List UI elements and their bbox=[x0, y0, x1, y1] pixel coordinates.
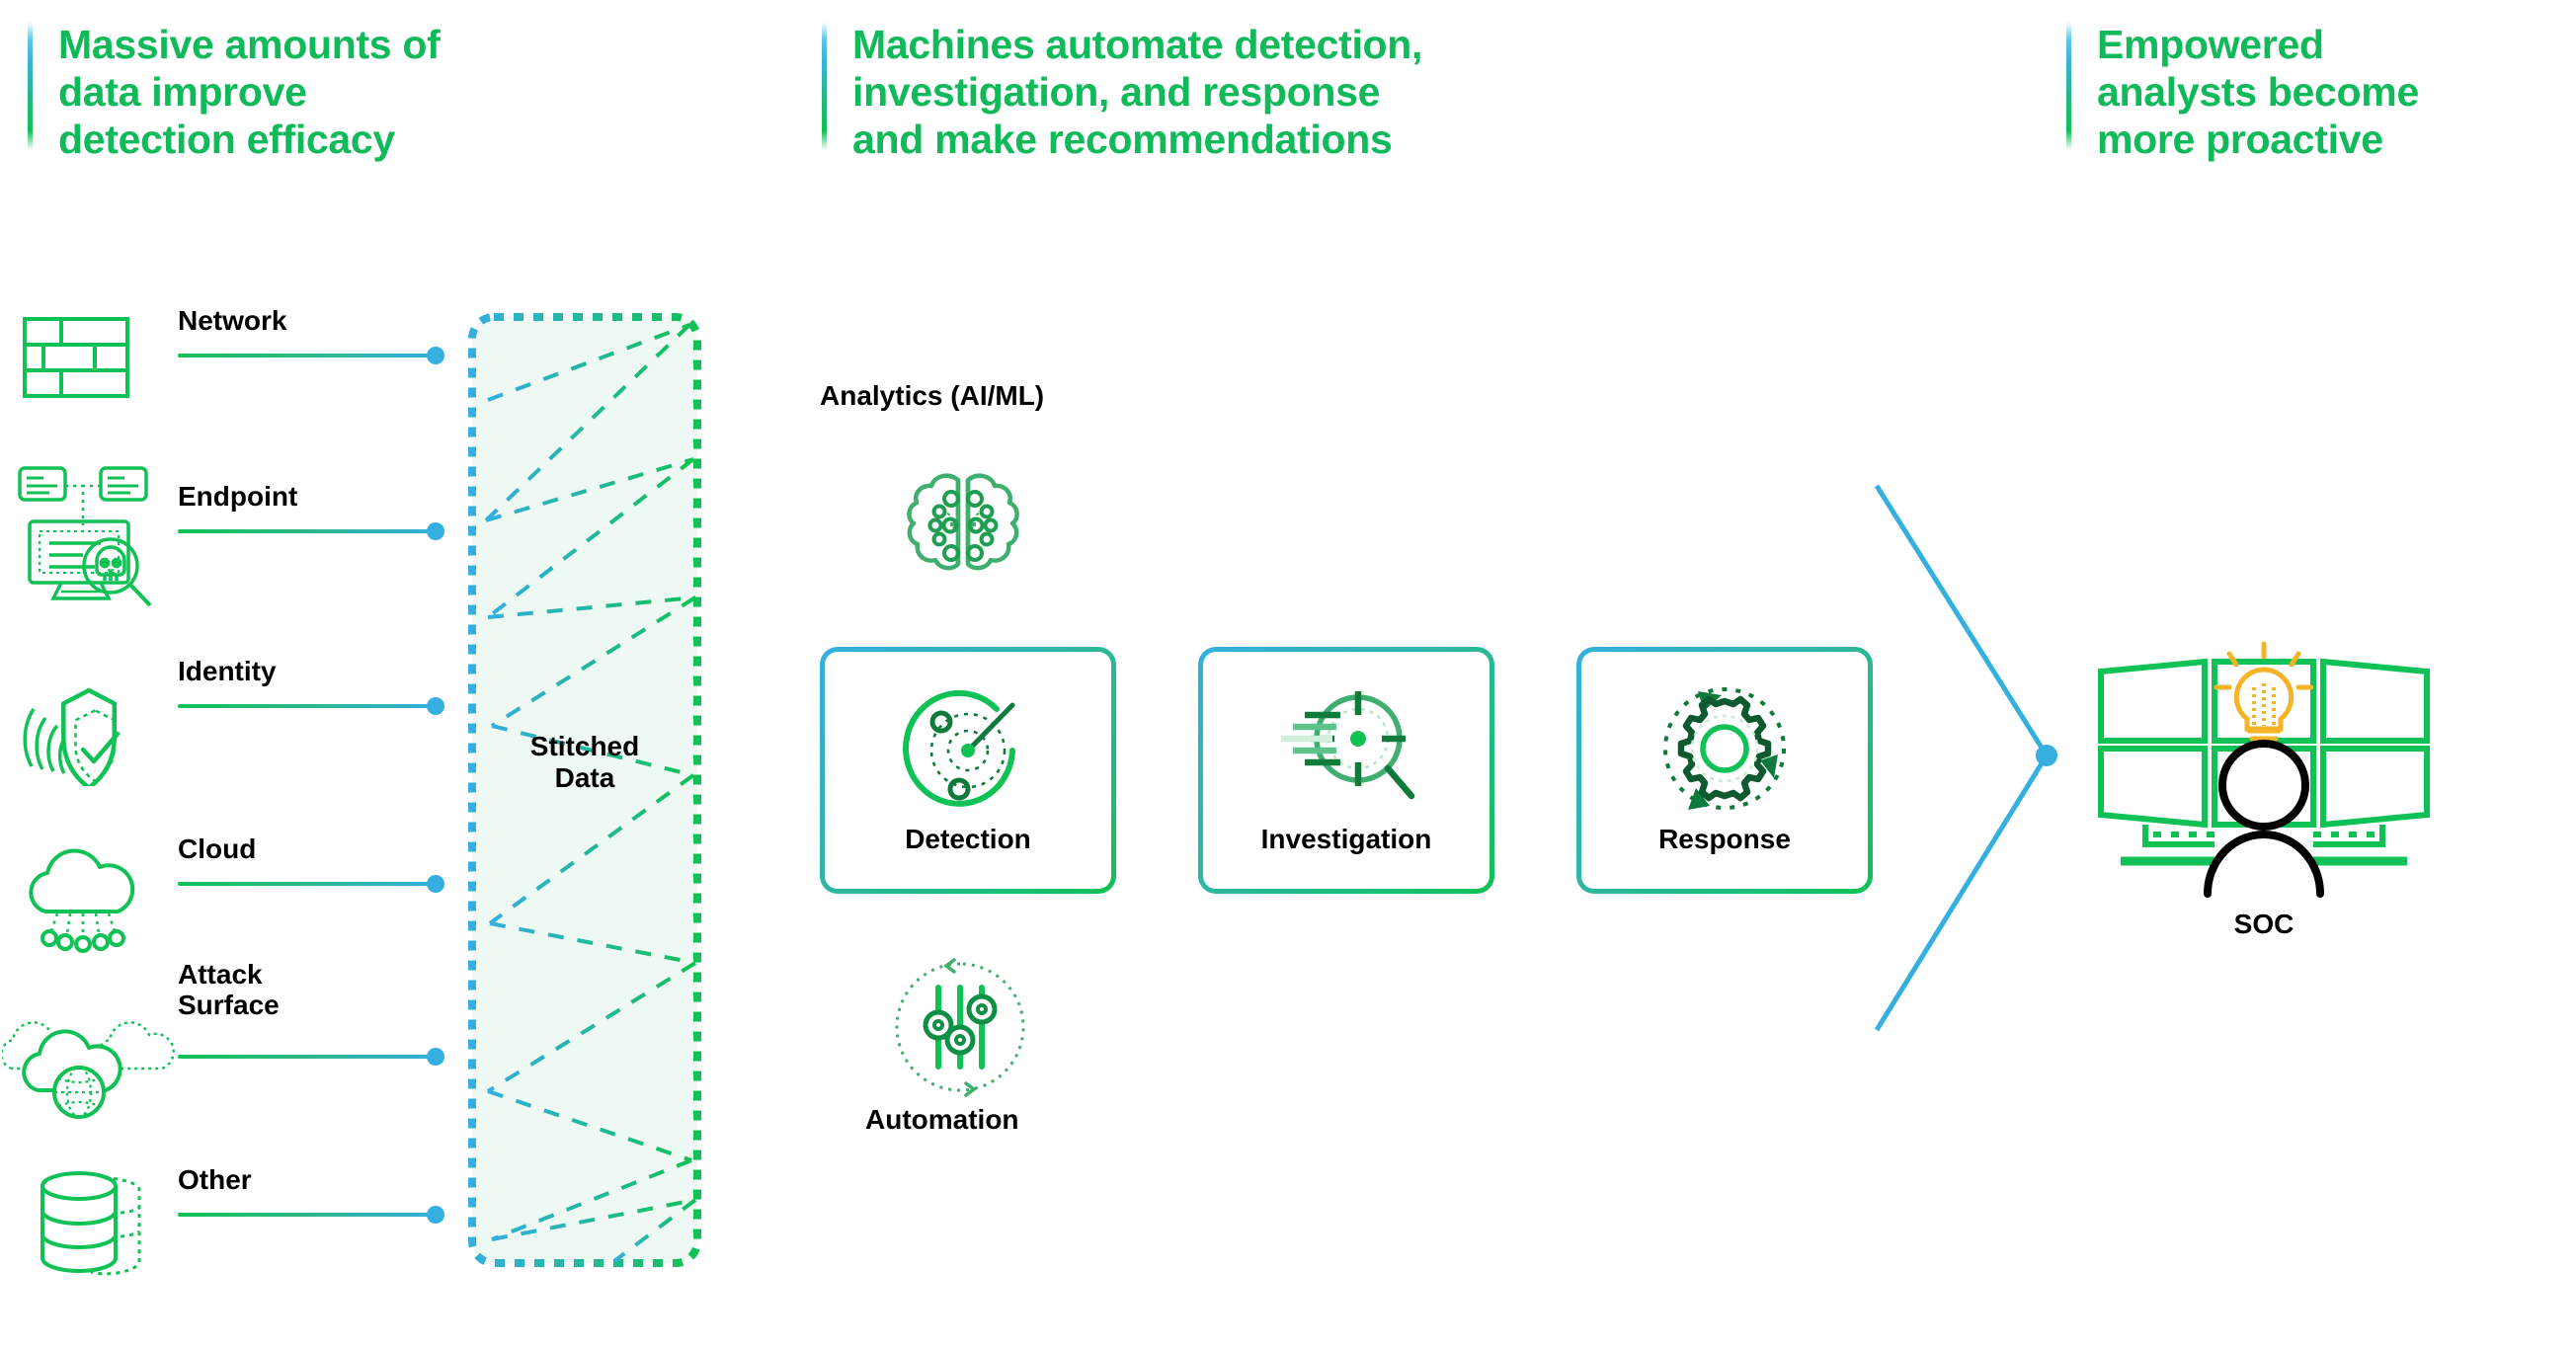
heading-title: Machines automate detection, investigati… bbox=[852, 22, 1422, 164]
source-row-identity: Identity bbox=[0, 647, 464, 785]
soc-monitors-analyst-lightbulb-icon bbox=[2066, 632, 2461, 923]
source-label: Endpoint bbox=[178, 482, 297, 513]
source-row-attack-surface: Attack Surface bbox=[0, 958, 464, 1096]
source-label: Cloud bbox=[178, 834, 256, 865]
source-connector-line bbox=[178, 1055, 437, 1059]
source-connector-dot bbox=[427, 1048, 444, 1066]
automation-label: Automation bbox=[865, 1104, 1019, 1136]
gear-rotating-arrows-icon bbox=[1649, 677, 1802, 826]
source-label: Network bbox=[178, 306, 286, 337]
source-label: Identity bbox=[178, 657, 277, 687]
radar-sonar-dial-icon bbox=[894, 677, 1042, 826]
heading-accent-bar bbox=[822, 22, 827, 150]
source-connector-line bbox=[178, 882, 437, 886]
brain-ai-icon bbox=[889, 464, 1037, 597]
heading-title: Empowered analysts become more proactive bbox=[2097, 22, 2419, 164]
source-connector-line bbox=[178, 529, 437, 533]
process-card-response[interactable]: Response bbox=[1576, 647, 1873, 894]
source-connector-dot bbox=[427, 1206, 444, 1224]
source-connector-dot bbox=[427, 875, 444, 893]
soc-label: SOC bbox=[2066, 909, 2461, 940]
process-card-label: Investigation bbox=[1203, 824, 1489, 855]
process-card-investigation[interactable]: Investigation bbox=[1198, 647, 1494, 894]
heading-title: Massive amounts of data improve detectio… bbox=[58, 22, 440, 164]
source-connector-line bbox=[178, 354, 437, 357]
source-connector-dot bbox=[427, 697, 444, 715]
fingerprint-shield-check-icon bbox=[12, 663, 150, 791]
source-label: Attack Surface bbox=[178, 960, 280, 1021]
cloud-data-icon bbox=[18, 844, 146, 958]
process-card-label: Response bbox=[1581, 824, 1868, 855]
firewall-brick-wall-icon bbox=[22, 316, 130, 405]
heading-accent-bar bbox=[2066, 22, 2071, 150]
heading-accent-bar bbox=[28, 22, 33, 150]
cloud-globe-attack-surface-icon bbox=[2, 1013, 175, 1127]
database-cylinder-icon bbox=[36, 1169, 154, 1288]
heading-block-data: Massive amounts of data improve detectio… bbox=[28, 22, 581, 150]
source-connector-line bbox=[178, 704, 437, 708]
source-connector-dot bbox=[427, 522, 444, 540]
source-connector-line bbox=[178, 1213, 437, 1217]
heading-block-machines: Machines automate detection, investigati… bbox=[822, 22, 1651, 150]
crosshair-target-magnifier-icon bbox=[1267, 677, 1425, 826]
sliders-automation-icon bbox=[889, 956, 1032, 1104]
process-card-label: Detection bbox=[825, 824, 1111, 855]
source-label: Other bbox=[178, 1165, 252, 1196]
source-connector-dot bbox=[427, 347, 444, 364]
source-row-cloud: Cloud bbox=[0, 825, 464, 963]
analytics-label: Analytics (AI/ML) bbox=[820, 380, 1044, 412]
stitched-data-label: Stitched Data bbox=[466, 731, 703, 794]
source-row-other: Other bbox=[0, 1155, 464, 1294]
source-row-network: Network bbox=[0, 296, 464, 435]
heading-block-analysts: Empowered analysts become more proactive bbox=[2066, 22, 2550, 150]
source-row-endpoint: Endpoint bbox=[0, 472, 464, 610]
process-card-detection[interactable]: Detection bbox=[820, 647, 1116, 894]
desktop-malware-magnifier-icon bbox=[14, 464, 162, 617]
